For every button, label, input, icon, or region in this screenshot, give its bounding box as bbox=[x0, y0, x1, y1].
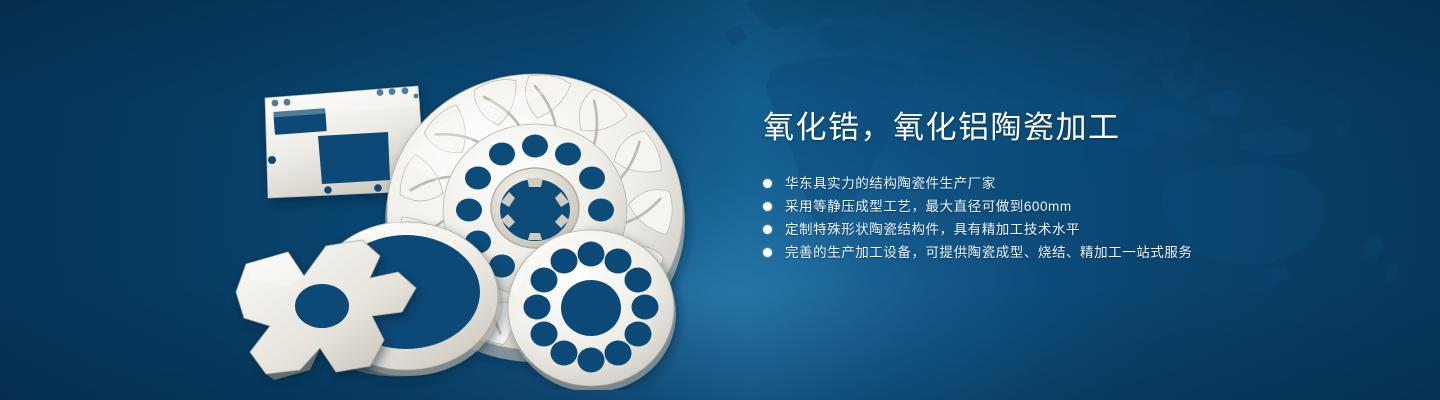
bullet-dot-icon bbox=[763, 248, 772, 257]
bullet-dot-icon bbox=[763, 179, 772, 188]
banner-copy: 氧化锆，氧化铝陶瓷加工 华东具实力的结构陶瓷件生产厂家 采用等静压成型工艺，最大… bbox=[763, 108, 1383, 264]
ceramic-products-image bbox=[230, 40, 710, 390]
list-item: 定制特殊形状陶瓷结构件，具有精加工技术水平 bbox=[763, 218, 1383, 241]
feature-text: 完善的生产加工设备，可提供陶瓷成型、烧结、精加工一站式服务 bbox=[785, 241, 1192, 264]
feature-text: 采用等静压成型工艺，最大直径可做到600mm bbox=[785, 195, 1072, 218]
feature-text: 华东具实力的结构陶瓷件生产厂家 bbox=[785, 172, 996, 195]
hero-banner: 氧化锆，氧化铝陶瓷加工 华东具实力的结构陶瓷件生产厂家 采用等静压成型工艺，最大… bbox=[0, 0, 1440, 400]
bullet-dot-icon bbox=[763, 225, 772, 234]
list-item: 采用等静压成型工艺，最大直径可做到600mm bbox=[763, 195, 1383, 218]
feature-text: 定制特殊形状陶瓷结构件，具有精加工技术水平 bbox=[785, 218, 1080, 241]
list-item: 华东具实力的结构陶瓷件生产厂家 bbox=[763, 172, 1383, 195]
ceramic-perforated-disc bbox=[508, 230, 676, 390]
page-title: 氧化锆，氧化铝陶瓷加工 bbox=[763, 108, 1383, 148]
feature-list: 华东具实力的结构陶瓷件生产厂家 采用等静压成型工艺，最大直径可做到600mm 定… bbox=[763, 172, 1383, 264]
list-item: 完善的生产加工设备，可提供陶瓷成型、烧结、精加工一站式服务 bbox=[763, 241, 1383, 264]
bullet-dot-icon bbox=[763, 202, 772, 211]
